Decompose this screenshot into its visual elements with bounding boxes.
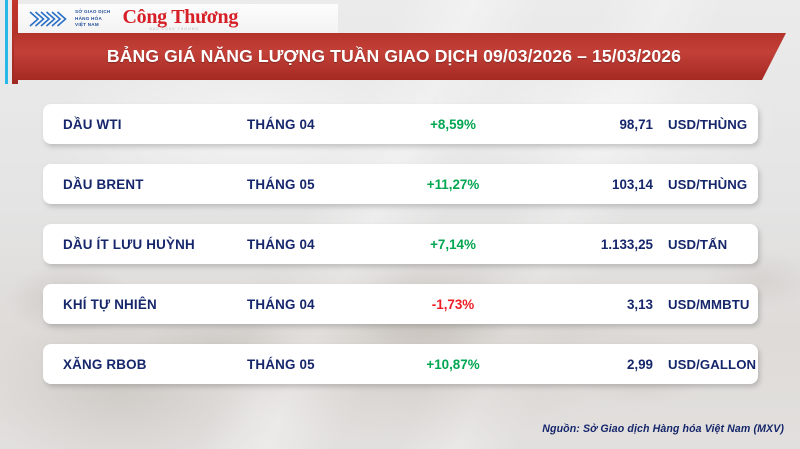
commodity-name: DẦU BRENT [63, 177, 144, 192]
page-title: BẢNG GIÁ NĂNG LƯỢNG TUẦN GIAO DỊCH 09/03… [107, 46, 693, 67]
commodity-name: KHÍ TỰ NHIÊN [63, 297, 157, 312]
commodity-name: DẦU ÍT LƯU HUỲNH [63, 237, 195, 252]
contract-month: THÁNG 04 [247, 117, 315, 132]
price-value: 98,71 [513, 117, 653, 132]
change-percent: +7,14% [398, 237, 508, 252]
price-table: DẦU WTITHÁNG 04+8,59%98,71USD/THÙNGDẦU B… [43, 104, 758, 404]
price-unit: USD/THÙNG [668, 177, 747, 192]
contract-month: THÁNG 05 [247, 357, 315, 372]
logo-bar: SỞ GIAO DỊCH HÀNG HÓA VIỆT NAM Công Thươ… [18, 4, 338, 34]
table-row: DẦU ÍT LƯU HUỲNHTHÁNG 04+7,14%1.133,25US… [43, 224, 758, 264]
contract-month: THÁNG 05 [247, 177, 315, 192]
mxv-logo: SỞ GIAO DỊCH HÀNG HÓA VIỆT NAM [28, 9, 111, 29]
table-row: DẦU WTITHÁNG 04+8,59%98,71USD/THÙNG [43, 104, 758, 144]
contract-month: THÁNG 04 [247, 237, 315, 252]
commodity-name: DẦU WTI [63, 117, 122, 132]
mxv-line-1: SỞ GIAO DỊCH [75, 9, 111, 16]
change-percent: -1,73% [398, 297, 508, 312]
contract-month: THÁNG 04 [247, 297, 315, 312]
table-row: KHÍ TỰ NHIÊNTHÁNG 04-1,73%3,13USD/MMBTU [43, 284, 758, 324]
price-value: 3,13 [513, 297, 653, 312]
mxv-wordmark: SỞ GIAO DỊCH HÀNG HÓA VIỆT NAM [75, 9, 111, 29]
commodity-name: XĂNG RBOB [63, 357, 147, 372]
title-banner: BẢNG GIÁ NĂNG LƯỢNG TUẦN GIAO DỊCH 09/03… [14, 33, 786, 80]
price-unit: USD/TẤN [668, 237, 727, 252]
change-percent: +8,59% [398, 117, 508, 132]
table-row: XĂNG RBOBTHÁNG 05+10,87%2,99USD/GALLON [43, 344, 758, 384]
mxv-line-3: VIỆT NAM [75, 22, 111, 29]
price-unit: USD/GALLON [668, 357, 756, 372]
change-percent: +10,87% [398, 357, 508, 372]
price-value: 1.133,25 [513, 237, 653, 252]
price-value: 2,99 [513, 357, 653, 372]
congthuong-logo: Công Thương BÁO CÔNG THƯƠNG [111, 7, 239, 31]
change-percent: +11,27% [398, 177, 508, 192]
source-note: Nguồn: Sở Giao dịch Hàng hóa Việt Nam (M… [542, 423, 784, 435]
infographic-root: SỞ GIAO DỊCH HÀNG HÓA VIỆT NAM Công Thươ… [0, 0, 800, 449]
price-unit: USD/MMBTU [668, 297, 749, 312]
mxv-chevron-icon [28, 9, 70, 29]
table-row: DẦU BRENTTHÁNG 05+11,27%103,14USD/THÙNG [43, 164, 758, 204]
price-value: 103,14 [513, 177, 653, 192]
price-unit: USD/THÙNG [668, 117, 747, 132]
congthuong-wordmark: Công Thương [123, 7, 239, 27]
